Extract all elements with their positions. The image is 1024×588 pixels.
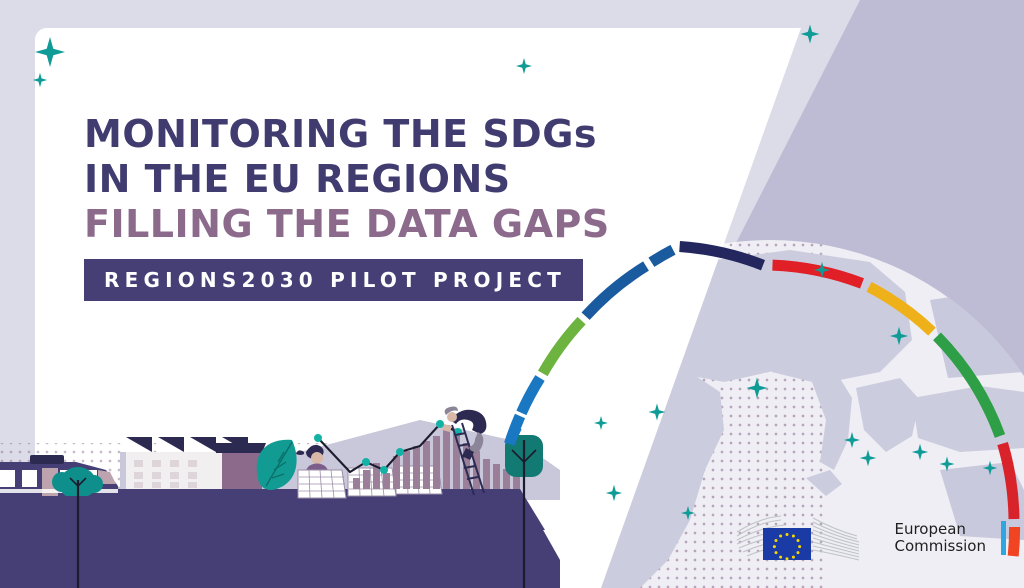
ec-accent-bar	[1001, 521, 1006, 555]
poster-canvas: MONITORING THE SDGs IN THE EU REGIONS FI…	[0, 0, 1024, 588]
title-block: MONITORING THE SDGs IN THE EU REGIONS FI…	[84, 112, 610, 301]
title-line-2: IN THE EU REGIONS	[84, 157, 610, 202]
ec-line-2: Commission	[894, 538, 986, 555]
eu-flag	[763, 528, 811, 560]
ec-wordmark: European Commission	[894, 521, 986, 555]
ec-emblem	[735, 510, 885, 566]
ec-swoosh-right	[813, 518, 859, 560]
project-badge: REGIONS2030 PILOT PROJECT	[84, 259, 583, 301]
factory-illustration	[126, 437, 266, 489]
ec-line-1: European	[894, 521, 986, 538]
title-line-1: MONITORING THE SDGs	[84, 112, 610, 157]
european-commission-logo: European Commission	[735, 510, 1006, 566]
title-line-3: FILLING THE DATA GAPS	[84, 202, 610, 247]
